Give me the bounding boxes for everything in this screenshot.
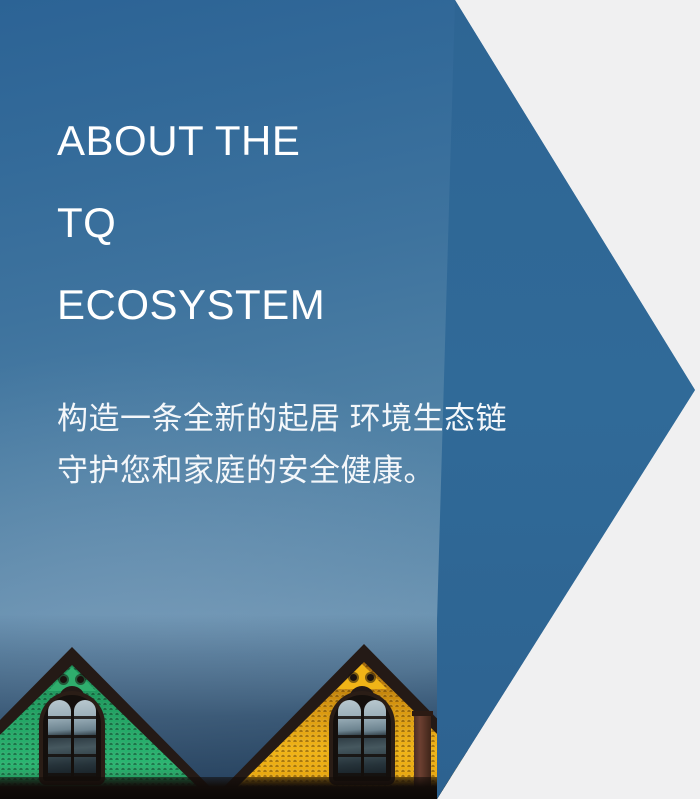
- orange-attic-window: [333, 695, 391, 781]
- headline-line-3: ECOSYSTEM: [57, 264, 457, 346]
- window-pane: [364, 700, 387, 776]
- rooftops-group: [0, 624, 700, 799]
- hero-subcopy: 构造一条全新的起居 环境生态链 守护您和家庭的安全健康。: [57, 393, 457, 497]
- green-attic-window: [43, 695, 101, 781]
- window-pane: [338, 700, 361, 776]
- orange-gable-house: [212, 637, 512, 799]
- window-pane: [74, 700, 97, 776]
- page-title: ABOUT THE TQ ECOSYSTEM: [57, 100, 457, 346]
- headline-line-1: ABOUT THE: [57, 100, 457, 182]
- hero-banner: ABOUT THE TQ ECOSYSTEM 构造一条全新的起居 环境生态链 守…: [0, 0, 700, 799]
- hero-copy: ABOUT THE TQ ECOSYSTEM 构造一条全新的起居 环境生态链 守…: [57, 100, 457, 497]
- window-pane: [48, 700, 71, 776]
- subcopy-line-1: 构造一条全新的起居 环境生态链: [57, 393, 457, 445]
- eaves-shadow-band: [0, 777, 700, 799]
- green-gable-house: [0, 639, 222, 799]
- subcopy-line-2: 守护您和家庭的安全健康。: [57, 445, 457, 497]
- chimney-cap: [412, 711, 433, 716]
- headline-line-2: TQ: [57, 182, 457, 264]
